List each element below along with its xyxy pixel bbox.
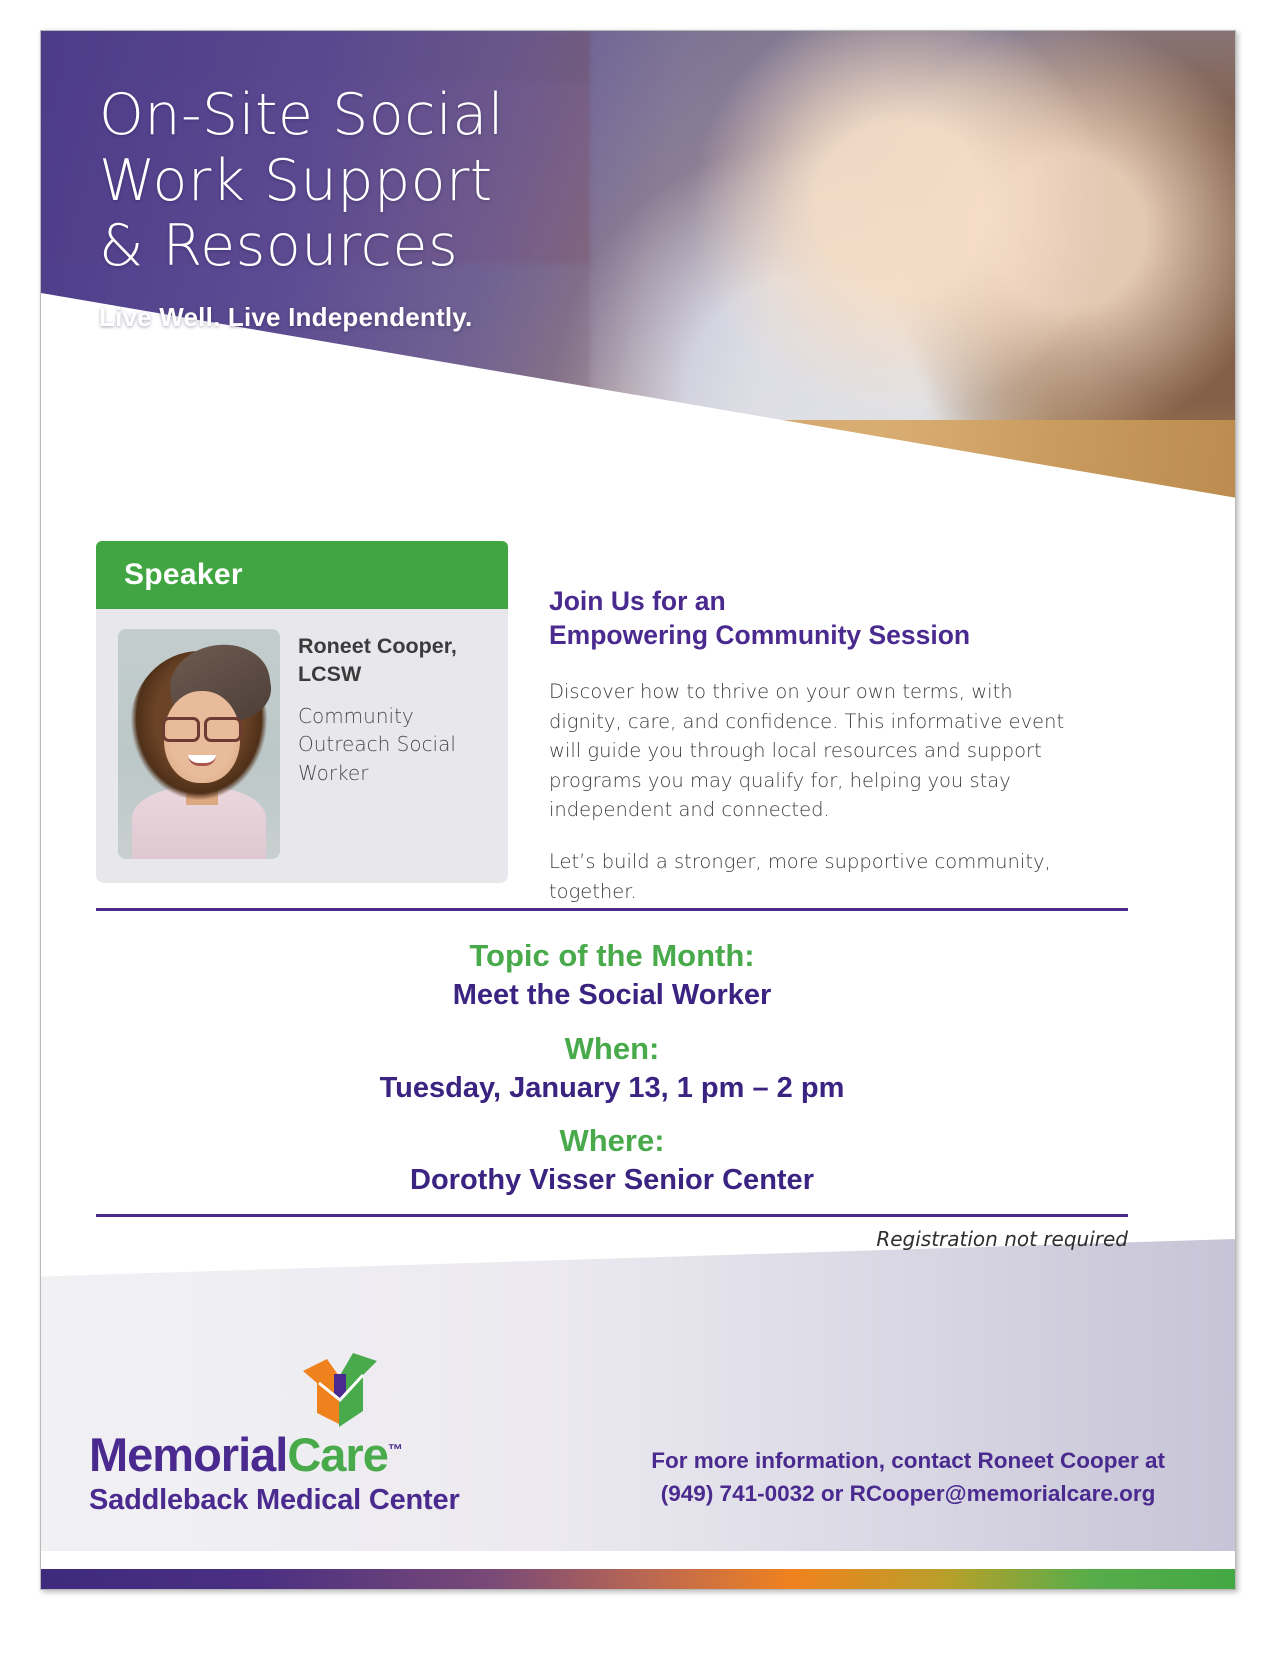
logo-facility-name: Saddleback Medical Center bbox=[89, 1484, 460, 1517]
memorialcare-logo: MemorialCare™ Saddleback Medical Center bbox=[89, 1431, 460, 1517]
speaker-info: Roneet Cooper, LCSW Community Outreach S… bbox=[298, 629, 490, 859]
speaker-role: Community Outreach Social Worker bbox=[298, 702, 490, 787]
speaker-card: Speaker Roneet Cooper, LCSW Community Ou… bbox=[96, 541, 508, 883]
logo-wordmark: MemorialCare™ bbox=[89, 1431, 460, 1478]
logo-word-memorial: Memorial bbox=[89, 1428, 287, 1481]
flyer-title-line-2: Work Support bbox=[99, 149, 504, 215]
when-label: When: bbox=[96, 1029, 1128, 1069]
logo-trademark: ™ bbox=[388, 1441, 403, 1458]
session-paragraph-1: Discover how to thrive on your own terms… bbox=[549, 677, 1089, 825]
flyer-page: On-Site Social Work Support & Resources … bbox=[40, 30, 1236, 1590]
event-details: Topic of the Month: Meet the Social Work… bbox=[96, 936, 1128, 1214]
speaker-card-body: Roneet Cooper, LCSW Community Outreach S… bbox=[96, 609, 508, 883]
hero-text-block: On-Site Social Work Support & Resources … bbox=[99, 83, 504, 333]
flyer-title-line-1: On-Site Social bbox=[99, 83, 504, 149]
logo-word-care: Care bbox=[287, 1428, 388, 1481]
contact-line-1: For more information, contact Roneet Coo… bbox=[651, 1444, 1165, 1478]
speaker-name: Roneet Cooper, LCSW bbox=[298, 633, 490, 688]
session-description: Join Us for an Empowering Community Sess… bbox=[549, 584, 1089, 928]
topic-label: Topic of the Month: bbox=[96, 936, 1128, 976]
where-value: Dorothy Visser Senior Center bbox=[96, 1161, 1128, 1199]
when-value: Tuesday, January 13, 1 pm – 2 pm bbox=[96, 1069, 1128, 1107]
footer: MemorialCare™ Saddleback Medical Center … bbox=[41, 1239, 1235, 1589]
session-paragraph-2: Let’s build a stronger, more supportive … bbox=[549, 847, 1089, 906]
topic-value: Meet the Social Worker bbox=[96, 976, 1128, 1014]
speaker-card-header: Speaker bbox=[96, 541, 508, 609]
memorialcare-chevron-icon bbox=[301, 1353, 379, 1433]
session-heading: Join Us for an Empowering Community Sess… bbox=[549, 584, 1089, 653]
flyer-tagline: Live Well. Live Independently. bbox=[99, 302, 504, 333]
contact-block: For more information, contact Roneet Coo… bbox=[651, 1444, 1165, 1512]
flyer-title-line-3: & Resources bbox=[99, 214, 504, 280]
registration-note: Registration not required bbox=[96, 1227, 1128, 1251]
divider-top bbox=[96, 908, 1128, 911]
speaker-header-label: Speaker bbox=[124, 558, 243, 592]
hero-banner: On-Site Social Work Support & Resources … bbox=[41, 31, 1235, 621]
contact-line-2[interactable]: (949) 741-0032 or RCooper@memorialcare.o… bbox=[651, 1477, 1165, 1511]
divider-bottom bbox=[96, 1214, 1128, 1217]
footer-gradient-bar bbox=[41, 1569, 1235, 1589]
flyer-title: On-Site Social Work Support & Resources bbox=[99, 83, 504, 280]
speaker-headshot bbox=[118, 629, 280, 859]
session-heading-line-2: Empowering Community Session bbox=[549, 618, 1089, 652]
headshot-glasses bbox=[162, 717, 242, 737]
where-label: Where: bbox=[96, 1121, 1128, 1161]
session-heading-line-1: Join Us for an bbox=[549, 584, 1089, 618]
